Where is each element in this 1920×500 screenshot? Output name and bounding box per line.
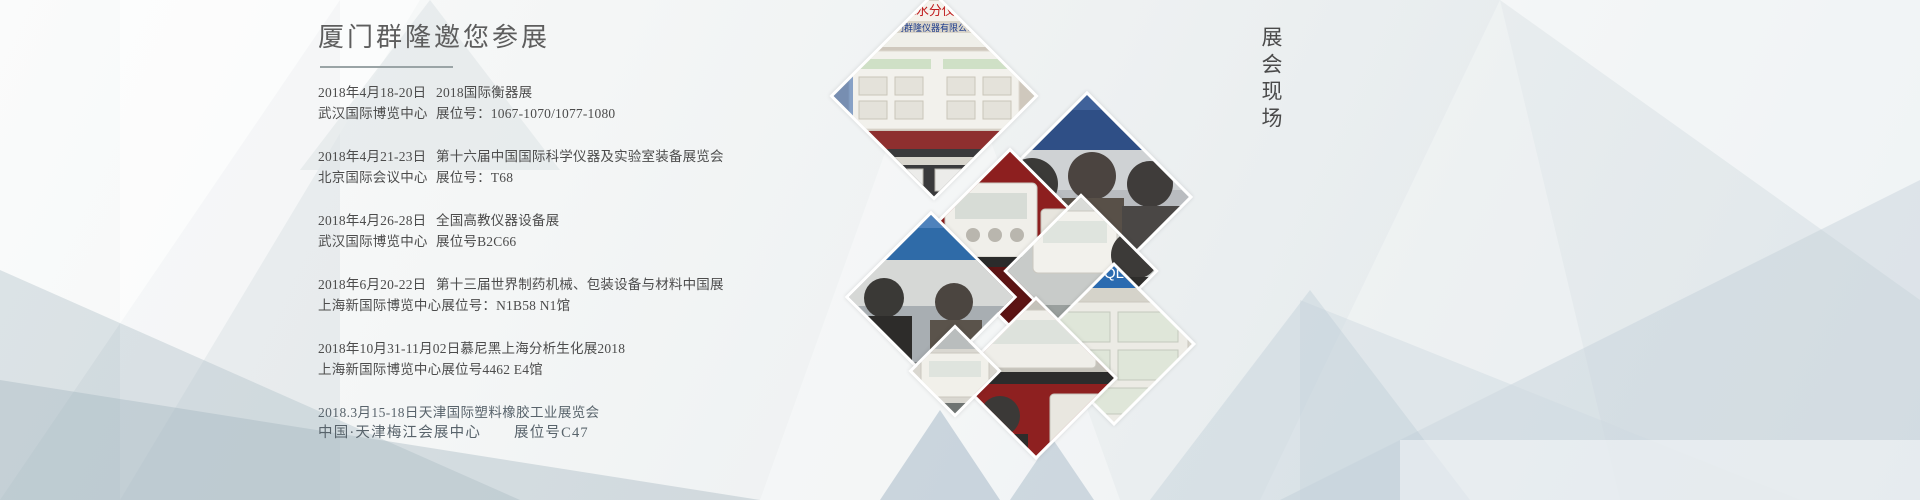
event-booth: 展位号：T68	[436, 167, 513, 188]
vertical-section-label: 展会现场	[1252, 26, 1286, 134]
event-item: 2018年4月18-20日2018国际衡器展 武汉国际博览中心展位号：1067-…	[318, 82, 1078, 124]
event-row-venue: 武汉国际博览中心展位号B2C66	[318, 231, 1078, 252]
event-name: 2018国际衡器展	[436, 82, 532, 103]
event-booth: 展位号4462 E4馆	[441, 359, 543, 380]
event-item: 2018年10月31-11月02日慕尼黑上海分析生化展2018 上海新国际博览中…	[318, 338, 1078, 380]
page-title: 厦门群隆邀您参展	[318, 22, 1078, 61]
event-venue: 上海新国际博览中心	[318, 359, 441, 380]
event-row-venue: 武汉国际博览中心展位号：1067-1070/1077-1080	[318, 103, 1078, 124]
event-date: 2018年10月31-11月02日	[318, 338, 460, 359]
event-date: 2018年4月21-23日	[318, 146, 436, 167]
event-name: 慕尼黑上海分析生化展2018	[460, 338, 625, 359]
event-row-date: 2018年4月21-23日第十六届中国国际科学仪器及实验室装备展览会	[318, 146, 1078, 167]
event-row-date: 2018年4月26-28日全国高教仪器设备展	[318, 210, 1078, 231]
event-item: 2018年6月20-22日第十三届世界制药机械、包装设备与材料中国展 上海新国际…	[318, 274, 1078, 316]
event-venue: 武汉国际博览中心	[318, 231, 436, 252]
event-booth: 展位号B2C66	[436, 231, 516, 252]
event-row-venue: 北京国际会议中心展位号：T68	[318, 167, 1078, 188]
event-name: 第十六届中国国际科学仪器及实验室装备展览会	[436, 146, 724, 167]
title-underline	[320, 66, 453, 68]
event-row-venue: 中国·天津梅江会展中心展位号C47	[318, 423, 1078, 444]
svg-text:密度计&水分仪中国供: 密度计&水分仪中国供	[868, 3, 994, 18]
event-venue: 中国·天津梅江会展中心	[318, 423, 514, 444]
event-venue: 上海新国际博览中心	[318, 295, 441, 316]
event-venue: 武汉国际博览中心	[318, 103, 436, 124]
event-row-date: 2018年10月31-11月02日慕尼黑上海分析生化展2018	[318, 338, 1078, 359]
event-row-date: 2018.3月15-18日天津国际塑料橡胶工业展览会	[318, 402, 1078, 423]
event-date: 2018年4月18-20日	[318, 82, 436, 103]
event-booth: 展位号：N1B58 N1馆	[441, 295, 570, 316]
event-row-date: 2018年6月20-22日第十三届世界制药机械、包装设备与材料中国展	[318, 274, 1078, 295]
event-booth: 展位号C47	[514, 423, 589, 444]
event-date: 2018年6月20-22日	[318, 274, 436, 295]
event-date: 2018年4月26-28日	[318, 210, 436, 231]
event-name: 第十三届世界制药机械、包装设备与材料中国展	[436, 274, 724, 295]
exhibition-banner: 厦门群隆邀您参展 2018年4月18-20日2018国际衡器展 武汉国际博览中心…	[0, 0, 1920, 500]
event-list-panel: 厦门群隆邀您参展 2018年4月18-20日2018国际衡器展 武汉国际博览中心…	[318, 22, 1078, 466]
bg-shape-12	[1400, 440, 1920, 500]
event-row-venue: 上海新国际博览中心展位号：N1B58 N1馆	[318, 295, 1078, 316]
event-venue: 北京国际会议中心	[318, 167, 436, 188]
event-name: 全国高教仪器设备展	[436, 210, 559, 231]
event-item: 2018年4月21-23日第十六届中国国际科学仪器及实验室装备展览会 北京国际会…	[318, 146, 1078, 188]
event-item: 2018.3月15-18日天津国际塑料橡胶工业展览会 中国·天津梅江会展中心展位…	[318, 402, 1078, 444]
event-item: 2018年4月26-28日全国高教仪器设备展 武汉国际博览中心展位号B2C66	[318, 210, 1078, 252]
event-row-venue: 上海新国际博览中心展位号4462 E4馆	[318, 359, 1078, 380]
event-booth: 展位号：1067-1070/1077-1080	[436, 103, 615, 124]
event-row-date: 2018年4月18-20日2018国际衡器展	[318, 82, 1078, 103]
